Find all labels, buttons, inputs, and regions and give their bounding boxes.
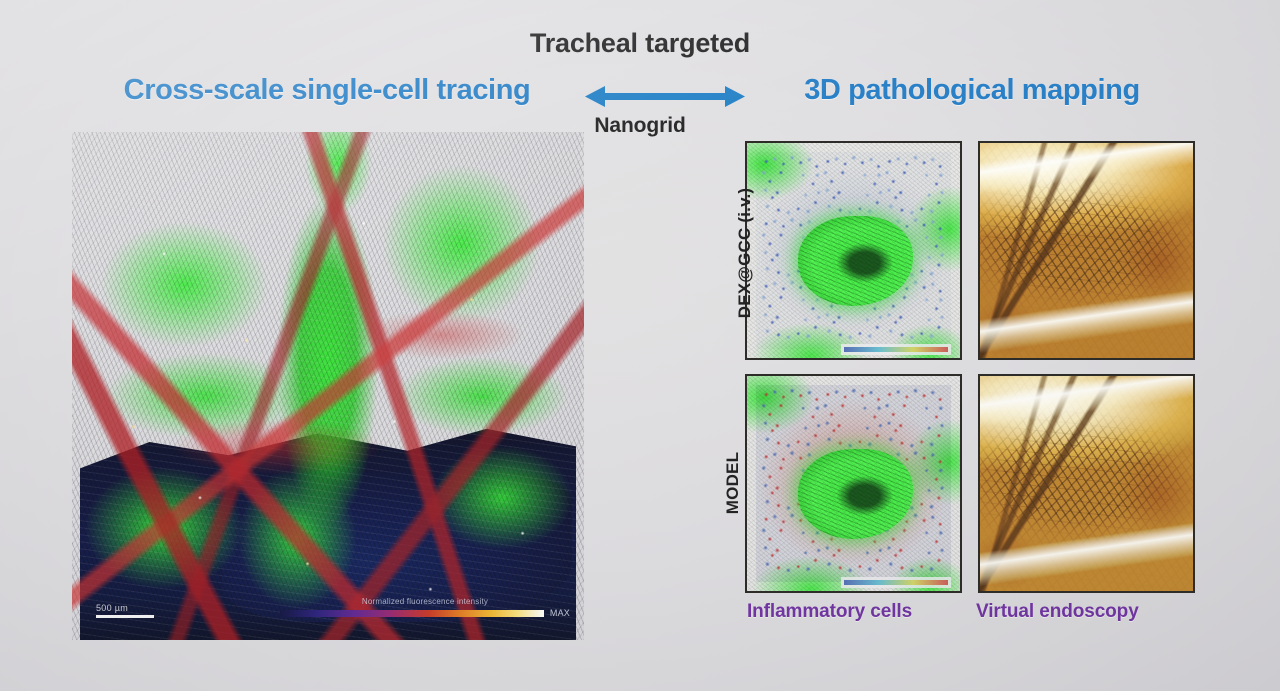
render-grain [747, 143, 960, 358]
column-label-virtual-endoscopy: Virtual endoscopy [976, 601, 1139, 623]
scale-bar-label: 500 µm [96, 603, 154, 613]
inflammatory-cell-field-dex [747, 143, 960, 358]
panel-dex-endoscopy[interactable] [978, 141, 1195, 360]
single-cell-specks [72, 132, 584, 640]
tracheal-targeted-caption: Tracheal targeted [0, 28, 1280, 59]
panel-model-inflammatory[interactable] [745, 374, 962, 593]
render-grain [747, 376, 960, 591]
nanogrid-caption: Nanogrid [0, 114, 1280, 138]
panel-legend-strip [841, 344, 952, 355]
colorbar-gradient [280, 610, 544, 617]
colorbar-title: Normalized fluorescence intensity [280, 597, 570, 606]
pathological-mapping-grid [745, 141, 1195, 593]
right-title-3d-pathological-mapping: 3D pathological mapping [742, 74, 1202, 107]
panel-legend-strip [841, 577, 952, 588]
row-label-dex-gcc: DEX@GCC (i.v.) [735, 183, 755, 323]
colorbar-max-label: MAX [550, 608, 570, 618]
virtual-endoscopy-view-dex [980, 143, 1193, 358]
panel-dex-inflammatory[interactable] [745, 141, 962, 360]
sepia-tint-overlay [980, 143, 1193, 358]
row-label-model: MODEL [723, 423, 743, 543]
scale-bar: 500 µm [96, 603, 154, 618]
inflammatory-cell-field-model [747, 376, 960, 591]
cross-scale-volume-render-panel: 500 µm Normalized fluorescence intensity… [72, 132, 584, 640]
sepia-tint-overlay [980, 376, 1193, 591]
intensity-colorbar: Normalized fluorescence intensity MAX [280, 597, 570, 618]
figure-canvas: Tracheal targeted Cross-scale single-cel… [0, 0, 1280, 691]
panel-model-endoscopy[interactable] [978, 374, 1195, 593]
column-label-inflammatory-cells: Inflammatory cells [747, 601, 912, 623]
scale-bar-line [96, 615, 154, 618]
virtual-endoscopy-view-model [980, 376, 1193, 591]
left-title-cross-scale-single-cell-tracing: Cross-scale single-cell tracing [72, 74, 582, 107]
bidirectional-arrow-icon [585, 80, 745, 114]
